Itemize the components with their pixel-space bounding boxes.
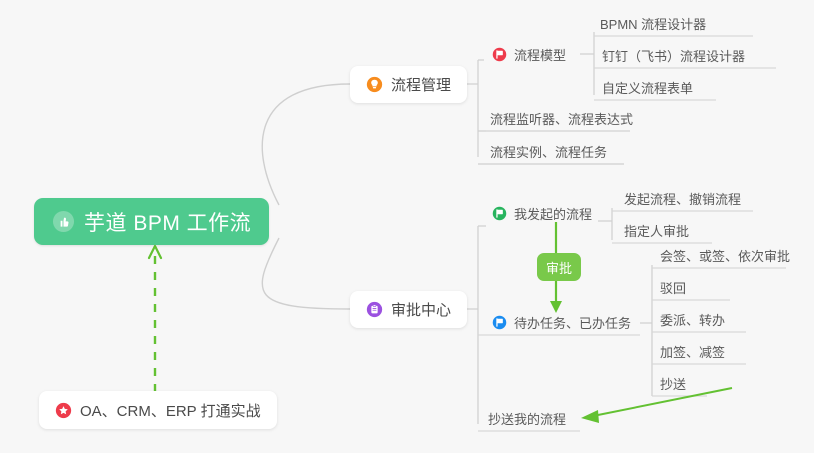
node-label: 流程模型 [514,45,566,64]
node-label: 自定义流程表单 [602,78,693,97]
branch-approval-center[interactable]: 审批中心 [350,291,467,328]
thumbs-up-icon [52,210,75,233]
node-label: 流程监听器、流程表达式 [490,109,633,128]
node-process-model[interactable]: 流程模型 [492,41,566,68]
node-label: 委派、转办 [660,310,725,329]
node-todo-done-tasks[interactable]: 待办任务、已办任务 [492,309,631,336]
node-delegate-transfer[interactable]: 委派、转办 [660,306,725,333]
node-label: 我发起的流程 [514,204,592,223]
star-icon [55,402,72,419]
node-countersign[interactable]: 会签、或签、依次审批 [660,242,790,269]
node-label: 驳回 [660,278,686,297]
node-label: 钉钉（飞书）流程设计器 [602,46,745,65]
node-reject[interactable]: 驳回 [660,274,686,301]
node-start-cancel-process[interactable]: 发起流程、撤销流程 [624,185,741,212]
node-label: 指定人审批 [624,221,689,240]
node-bpmn-designer[interactable]: BPMN 流程设计器 [600,10,706,37]
node-label: 抄送 [660,374,686,393]
node-custom-form[interactable]: 自定义流程表单 [602,74,693,101]
flag-icon [492,315,507,330]
flag-icon [492,47,507,62]
node-process-instance[interactable]: 流程实例、流程任务 [490,138,607,165]
node-label: 会签、或签、依次审批 [660,246,790,265]
node-label: BPMN 流程设计器 [600,14,706,33]
node-assignee-approval[interactable]: 指定人审批 [624,217,689,244]
clipboard-icon [366,301,383,318]
branch-label: 审批中心 [391,299,451,320]
tag-label: 审批 [546,258,572,277]
node-label: 抄送我的流程 [488,409,566,428]
node-add-remove-sign[interactable]: 加签、减签 [660,338,725,365]
node-label: 加签、减签 [660,342,725,361]
node-cc-to-me[interactable]: 抄送我的流程 [488,405,566,432]
flag-icon [492,206,507,221]
footnote-label: OA、CRM、ERP 打通实战 [80,400,261,421]
node-process-listener[interactable]: 流程监听器、流程表达式 [490,105,633,132]
node-cc[interactable]: 抄送 [660,370,686,397]
node-label: 待办任务、已办任务 [514,313,631,332]
root-label: 芋道 BPM 工作流 [84,207,251,237]
node-my-initiated[interactable]: 我发起的流程 [492,200,592,227]
mindmap-canvas: 芋道 BPM 工作流 流程管理 流程模型 BPMN 流程设计器 钉钉（飞书）流程… [0,0,814,453]
lightbulb-icon [366,76,383,93]
branch-label: 流程管理 [391,74,451,95]
node-label: 发起流程、撤销流程 [624,189,741,208]
link-root-to-approval-center [262,238,350,309]
arrow-cc-to-my-cc-head [581,410,599,423]
tag-approve[interactable]: 审批 [537,253,581,281]
node-dingtalk-designer[interactable]: 钉钉（飞书）流程设计器 [602,42,745,69]
node-label: 流程实例、流程任务 [490,142,607,161]
arrow-footnote-to-root-head [149,246,161,258]
branch-process-management[interactable]: 流程管理 [350,66,467,103]
root-node[interactable]: 芋道 BPM 工作流 [34,198,269,245]
link-root-to-process-management [262,84,350,205]
footnote-card[interactable]: OA、CRM、ERP 打通实战 [39,391,277,429]
